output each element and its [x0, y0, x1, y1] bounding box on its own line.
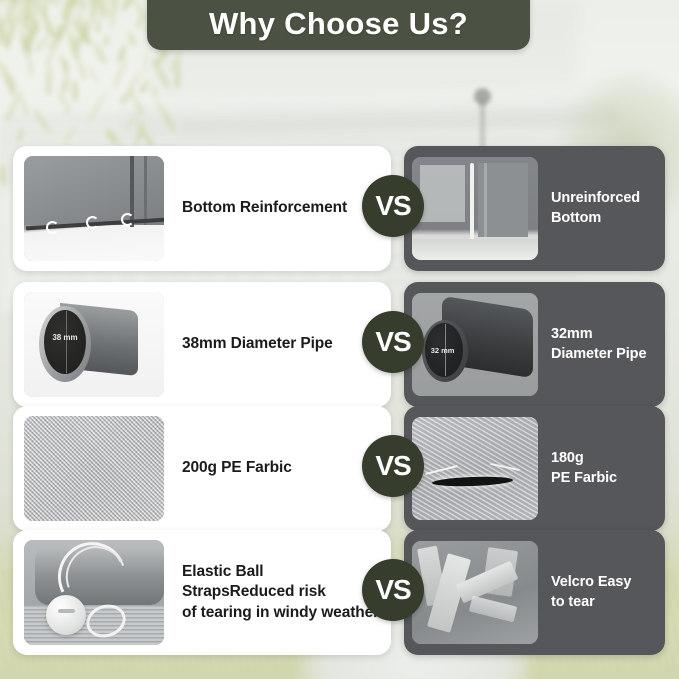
con-label: Velcro Easy to tear: [551, 573, 631, 612]
vs-badge: VS: [362, 435, 424, 497]
32mm-pipe-photo: 32 mm: [412, 293, 538, 396]
unreinforced-bottom-photo: [412, 157, 538, 260]
velcro-strips-photo: [412, 541, 538, 644]
elastic-ball-strap-photo: [24, 540, 164, 645]
comparison-row: Elastic Ball StrapsReduced risk of teari…: [0, 530, 679, 655]
180g-pe-fabric-torn-photo: [412, 417, 538, 520]
con-card[interactable]: Unreinforced Bottom: [404, 146, 665, 271]
con-label-line: 32mm: [551, 325, 646, 344]
comparison-row: 200g PE Farbic VS 180g PE Farbic: [0, 406, 679, 531]
comparison-row: 38 mm 38mm Diameter Pipe VS 32 mm 32mm D…: [0, 282, 679, 407]
pro-card[interactable]: 38 mm 38mm Diameter Pipe: [13, 282, 391, 407]
200g-pe-fabric-photo: [24, 416, 164, 521]
con-label-line: to tear: [551, 593, 631, 612]
con-label: Unreinforced Bottom: [551, 189, 640, 228]
con-label-line: 180g: [551, 449, 617, 468]
pro-label: Elastic Ball StrapsReduced risk of teari…: [182, 562, 379, 624]
pro-label-line: of tearing in windy weather: [182, 603, 379, 624]
pro-card[interactable]: 200g PE Farbic: [13, 406, 391, 531]
con-label-line: Diameter Pipe: [551, 345, 646, 364]
vs-badge: VS: [362, 175, 424, 237]
pro-card[interactable]: Elastic Ball StrapsReduced risk of teari…: [13, 530, 391, 655]
vs-badge: VS: [362, 311, 424, 373]
con-label: 32mm Diameter Pipe: [551, 325, 646, 364]
con-label-line: PE Farbic: [551, 469, 617, 488]
bottom-reinforcement-photo: [24, 156, 164, 261]
con-card[interactable]: 180g PE Farbic: [404, 406, 665, 531]
pro-label-line: StrapsReduced risk: [182, 582, 379, 603]
pipe-size-caption: 32 mm: [425, 347, 461, 355]
con-label: 180g PE Farbic: [551, 449, 617, 488]
pro-label: 38mm Diameter Pipe: [182, 334, 333, 355]
pro-label-line: Elastic Ball: [182, 562, 379, 583]
vs-badge: VS: [362, 559, 424, 621]
comparison-list: Bottom Reinforcement VS Unreinforced Bot…: [0, 0, 679, 679]
pro-card[interactable]: Bottom Reinforcement: [13, 146, 391, 271]
con-label-line: Velcro Easy: [551, 573, 631, 592]
infographic-canvas: Why Choose Us? Bottom Reinforcement VS: [0, 0, 679, 679]
pro-label: 200g PE Farbic: [182, 458, 292, 479]
con-card[interactable]: 32 mm 32mm Diameter Pipe: [404, 282, 665, 407]
con-label-line: Unreinforced: [551, 189, 640, 208]
pro-label: Bottom Reinforcement: [182, 198, 347, 219]
con-card[interactable]: Velcro Easy to tear: [404, 530, 665, 655]
con-label-line: Bottom: [551, 209, 640, 228]
38mm-pipe-photo: 38 mm: [24, 292, 164, 397]
pipe-size-caption: 38 mm: [45, 334, 85, 342]
comparison-row: Bottom Reinforcement VS Unreinforced Bot…: [0, 146, 679, 271]
